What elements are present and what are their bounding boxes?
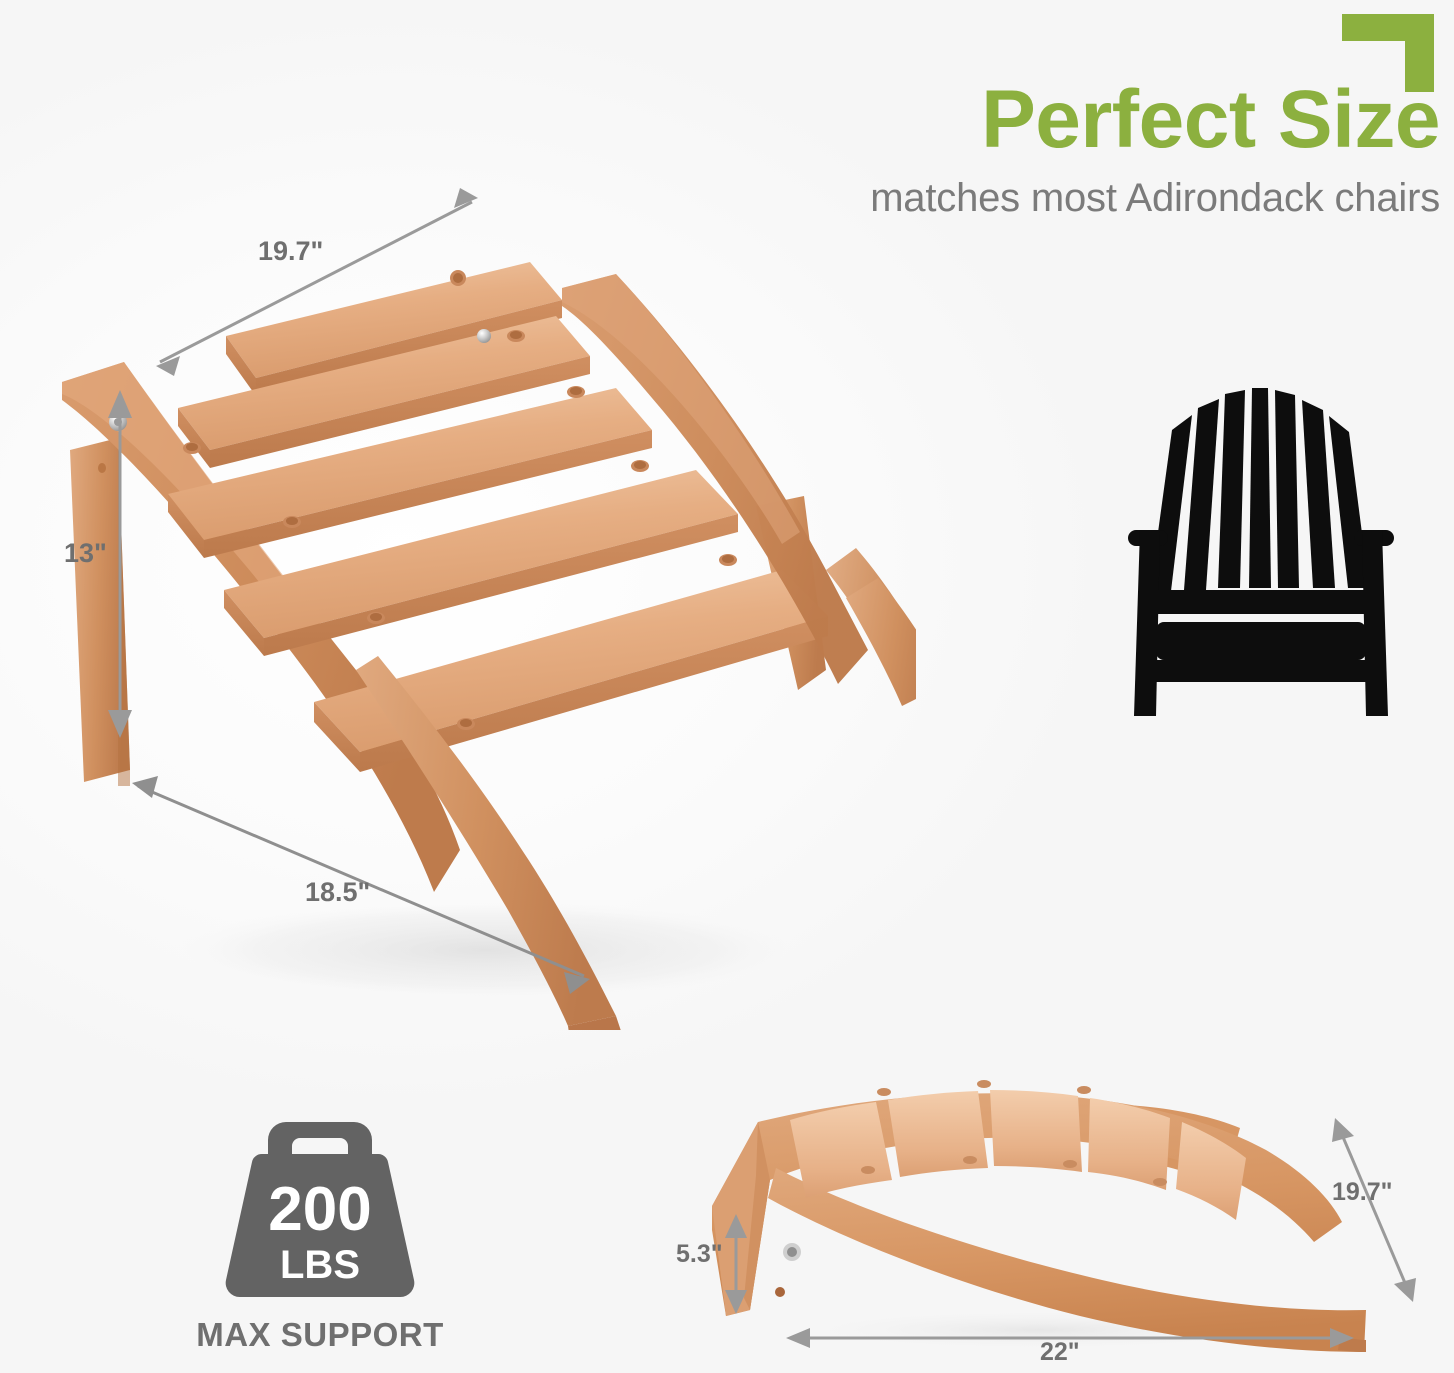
infographic-canvas: Perfect Size matches most Adirondack cha…	[0, 0, 1454, 1373]
weight-block-icon: 200 LBS	[150, 1112, 490, 1312]
adirondack-chair-silhouette-icon	[1092, 378, 1432, 728]
dimension-label-folded-height: 5.3"	[676, 1240, 723, 1269]
hero-ottoman-illustration	[56, 150, 916, 1030]
page-title: Perfect Size	[700, 80, 1440, 160]
dimension-label-depth: 18.5"	[305, 877, 370, 908]
dimension-label-folded-depth: 19.7"	[1332, 1178, 1393, 1207]
max-support-caption: MAX SUPPORT	[150, 1316, 490, 1354]
dimension-label-height: 13"	[64, 538, 107, 569]
dimension-label-folded-length: 22"	[1040, 1338, 1080, 1367]
svg-text:LBS: LBS	[280, 1243, 360, 1287]
dimension-label-width: 19.7"	[258, 236, 323, 267]
folded-side-view-illustration	[640, 1080, 1454, 1373]
svg-text:200: 200	[268, 1175, 371, 1244]
max-support-badge: 200 LBS MAX SUPPORT	[150, 1112, 490, 1362]
